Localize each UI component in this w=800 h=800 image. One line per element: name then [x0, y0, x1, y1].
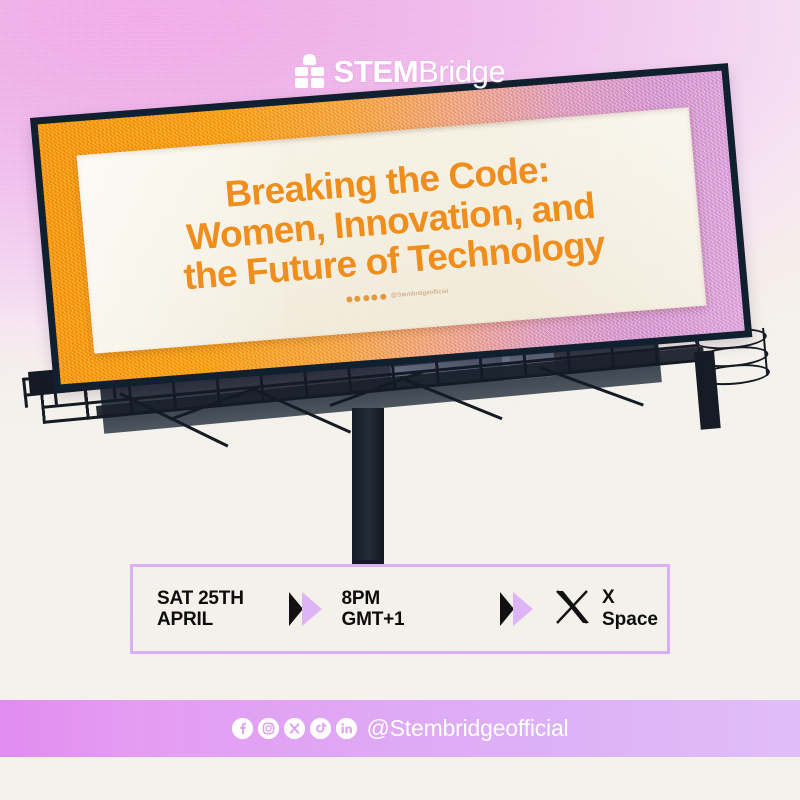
billboard-headline: Breaking the Code: Women, Innovation, an… [159, 144, 622, 299]
linkedin-icon[interactable] [336, 718, 357, 739]
event-time: 8PM GMT+1 [342, 588, 405, 631]
brand-name-light: Bridge [418, 54, 505, 89]
double-chevron-right-icon-2 [481, 592, 553, 626]
billboard-banner: Breaking the Code: Women, Innovation, an… [77, 107, 707, 353]
event-date: SAT 25TH APRIL [157, 588, 244, 631]
event-time-cell: 8PM GMT+1 [342, 567, 481, 651]
instagram-icon[interactable] [258, 718, 279, 739]
tiktok-icon[interactable] [310, 718, 331, 739]
billboard-banner-footer: @Stembridgeofficial [346, 289, 449, 303]
double-chevron-right-icon [269, 592, 341, 626]
billboard-support-column [352, 408, 384, 573]
facebook-icon[interactable] [232, 718, 253, 739]
event-date-cell: SAT 25TH APRIL [133, 567, 269, 651]
stembridge-blocks-icon [295, 54, 325, 88]
event-platform-label: X Space [602, 587, 667, 631]
x-icon[interactable] [284, 718, 305, 739]
event-platform-cell[interactable]: X Space [553, 567, 667, 651]
brand-wordmark: STEMBridge [334, 56, 506, 87]
footer-social-icons[interactable] [232, 718, 357, 739]
banner-social-dots-icon [346, 294, 386, 303]
x-logo-icon [553, 587, 593, 632]
banner-handle: @Stembridgeofficial [391, 289, 449, 299]
brand-header: STEMBridge [0, 54, 800, 88]
billboard-glitter-background: Breaking the Code: Women, Innovation, an… [38, 71, 745, 385]
brand-name-bold: STEM [334, 54, 419, 89]
poster-canvas: STEMBridge [0, 0, 800, 800]
billboard-face: Breaking the Code: Women, Innovation, an… [30, 63, 752, 392]
footer-bar: @Stembridgeofficial [0, 700, 800, 757]
event-info-bar: SAT 25TH APRIL 8PM GMT+1 X Space [130, 564, 670, 654]
poster-base [0, 757, 800, 800]
footer-handle: @Stembridgeofficial [367, 715, 569, 742]
